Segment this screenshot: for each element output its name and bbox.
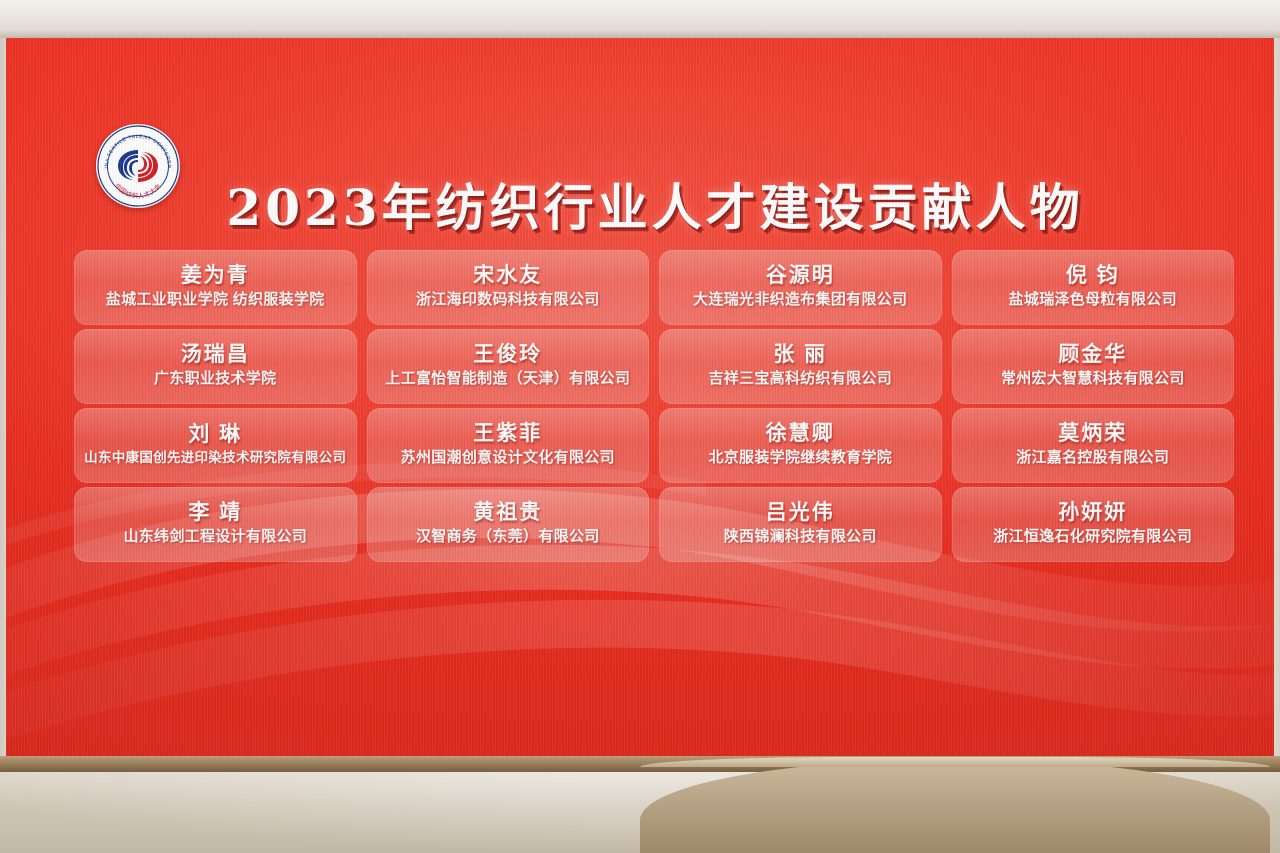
honoree-org: 大连瑞光非织造布集团有限公司 <box>693 291 907 308</box>
honoree-card: 汤瑞昌 广东职业技术学院 <box>74 329 357 404</box>
honoree-name: 谷源明 <box>766 264 835 288</box>
honoree-org: 上工富怡智能制造（天津）有限公司 <box>385 370 630 387</box>
honoree-card: 谷源明 大连瑞光非织造布集团有限公司 <box>659 250 942 325</box>
honoree-name: 孙妍妍 <box>1058 501 1127 525</box>
honoree-name: 黄祖贵 <box>473 501 542 525</box>
honoree-name: 莫炳荣 <box>1058 422 1127 446</box>
honoree-name: 张 丽 <box>773 343 827 367</box>
honoree-org: 广东职业技术学院 <box>154 370 276 387</box>
honoree-org: 浙江海印数码科技有限公司 <box>416 291 600 308</box>
honoree-name: 吕光伟 <box>766 501 835 525</box>
honoree-card: 李 靖 山东纬剑工程设计有限公司 <box>74 487 357 562</box>
honoree-card: 宋水友 浙江海印数码科技有限公司 <box>367 250 650 325</box>
honoree-org: 常州宏大智慧科技有限公司 <box>1001 370 1185 387</box>
honoree-org: 浙江恒逸石化研究院有限公司 <box>993 528 1192 545</box>
honoree-card: 黄祖贵 汉智商务（东莞）有限公司 <box>367 487 650 562</box>
honoree-org: 山东中康国创先进印染技术研究院有限公司 <box>84 450 346 466</box>
honoree-name: 王紫菲 <box>473 422 542 446</box>
honoree-card: 吕光伟 陕西锦澜科技有限公司 <box>659 487 942 562</box>
honoree-name: 李 靖 <box>188 501 242 525</box>
honoree-card: 姜为青 盐城工业职业学院 纺织服装学院 <box>74 250 357 325</box>
honoree-card: 张 丽 吉祥三宝高科纺织有限公司 <box>659 329 942 404</box>
honoree-org: 盐城工业职业学院 纺织服装学院 <box>106 291 325 308</box>
podium-edge <box>640 757 1270 767</box>
honoree-org: 浙江嘉名控股有限公司 <box>1016 449 1169 466</box>
honoree-org: 吉祥三宝高科纺织有限公司 <box>708 370 892 387</box>
honoree-name: 姜为青 <box>181 264 250 288</box>
honoree-name: 刘 琳 <box>188 423 242 447</box>
honoree-org: 盐城瑞泽色母粒有限公司 <box>1009 291 1177 308</box>
ceremony-photo: CHINA TEXTILE TALENT CONFERENCE 中国纺织人才大会… <box>0 0 1280 853</box>
honoree-card: 刘 琳 山东中康国创先进印染技术研究院有限公司 <box>74 408 357 483</box>
honoree-org: 山东纬剑工程设计有限公司 <box>123 528 307 545</box>
honoree-org: 汉智商务（东莞）有限公司 <box>416 528 600 545</box>
led-backdrop-screen: CHINA TEXTILE TALENT CONFERENCE 中国纺织人才大会… <box>6 38 1274 756</box>
page-title: 2023年纺织行业人才建设贡献人物 <box>6 168 1274 240</box>
honoree-name: 徐慧卿 <box>766 422 835 446</box>
honoree-card: 孙妍妍 浙江恒逸石化研究院有限公司 <box>952 487 1235 562</box>
honoree-org: 北京服装学院继续教育学院 <box>708 449 892 466</box>
honoree-name: 王俊玲 <box>473 343 542 367</box>
honoree-org: 苏州国潮创意设计文化有限公司 <box>401 449 615 466</box>
honoree-grid: 姜为青 盐城工业职业学院 纺织服装学院 宋水友 浙江海印数码科技有限公司 谷源明… <box>74 250 1234 562</box>
honoree-org: 陕西锦澜科技有限公司 <box>724 528 877 545</box>
honoree-name: 顾金华 <box>1058 343 1127 367</box>
honoree-card: 顾金华 常州宏大智慧科技有限公司 <box>952 329 1235 404</box>
honoree-name: 汤瑞昌 <box>181 343 250 367</box>
honoree-name: 倪 钧 <box>1066 264 1120 288</box>
honoree-card: 徐慧卿 北京服装学院继续教育学院 <box>659 408 942 483</box>
honoree-card: 倪 钧 盐城瑞泽色母粒有限公司 <box>952 250 1235 325</box>
honoree-card: 王俊玲 上工富怡智能制造（天津）有限公司 <box>367 329 650 404</box>
honoree-card: 莫炳荣 浙江嘉名控股有限公司 <box>952 408 1235 483</box>
honoree-card: 王紫菲 苏州国潮创意设计文化有限公司 <box>367 408 650 483</box>
honoree-name: 宋水友 <box>473 264 542 288</box>
